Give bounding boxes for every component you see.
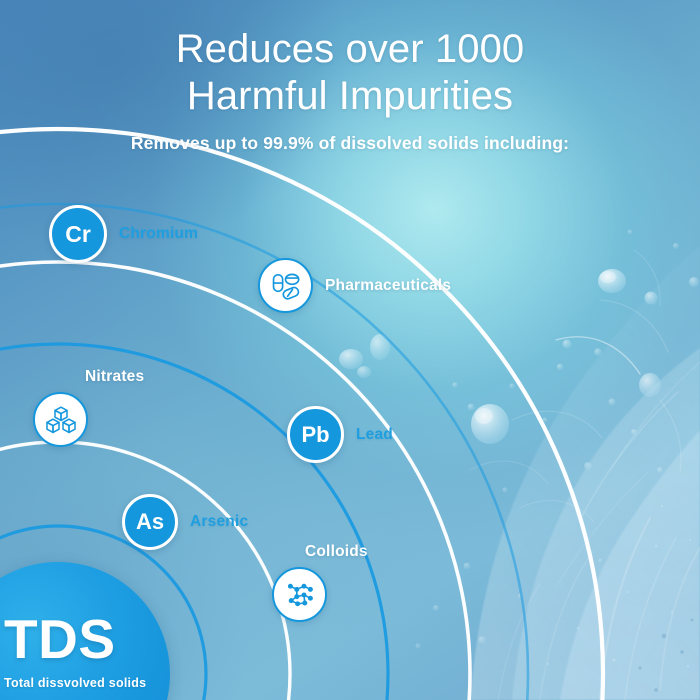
node-arsenic[interactable]: As Arsenic bbox=[122, 494, 248, 550]
tds-caption: Total dissvolved solids bbox=[4, 676, 146, 690]
node-label-colloids: Colloids bbox=[305, 543, 368, 561]
page-title: Reduces over 1000 Harmful Impurities bbox=[0, 26, 700, 120]
tds-acronym: TDS bbox=[4, 612, 146, 667]
element-symbol-icon-pb: Pb bbox=[287, 406, 344, 463]
cubes-icon bbox=[33, 392, 88, 447]
header-block: Reduces over 1000 Harmful Impurities Rem… bbox=[0, 26, 700, 154]
node-colloids[interactable]: Colloids bbox=[272, 543, 368, 622]
node-chromium[interactable]: Cr Chromium bbox=[49, 205, 198, 263]
title-line-2: Harmful Impurities bbox=[0, 73, 700, 120]
title-line-1: Reduces over 1000 bbox=[0, 26, 700, 73]
arsenic-symbol: As bbox=[136, 509, 164, 535]
node-label-lead: Lead bbox=[356, 426, 393, 444]
page-subtitle: Removes up to 99.9% of dissolved solids … bbox=[0, 133, 700, 154]
node-pharmaceuticals[interactable]: Pharmaceuticals bbox=[258, 258, 451, 313]
tds-badge-content: TDS Total dissvolved solids bbox=[4, 612, 146, 690]
pills-icon bbox=[258, 258, 313, 313]
molecule-network-icon bbox=[272, 567, 327, 622]
node-label-arsenic: Arsenic bbox=[190, 513, 248, 531]
chromium-symbol: Cr bbox=[65, 221, 91, 248]
node-label-nitrates: Nitrates bbox=[85, 368, 144, 386]
node-label-chromium: Chromium bbox=[119, 225, 198, 243]
node-lead[interactable]: Pb Lead bbox=[287, 406, 393, 463]
node-label-pharmaceuticals: Pharmaceuticals bbox=[325, 277, 451, 295]
infographic-poster: Reduces over 1000 Harmful Impurities Rem… bbox=[0, 0, 700, 700]
element-symbol-icon-as: As bbox=[122, 494, 178, 550]
lead-symbol: Pb bbox=[301, 422, 329, 448]
element-symbol-icon-cr: Cr bbox=[49, 205, 107, 263]
node-nitrates[interactable]: Nitrates bbox=[33, 368, 144, 447]
